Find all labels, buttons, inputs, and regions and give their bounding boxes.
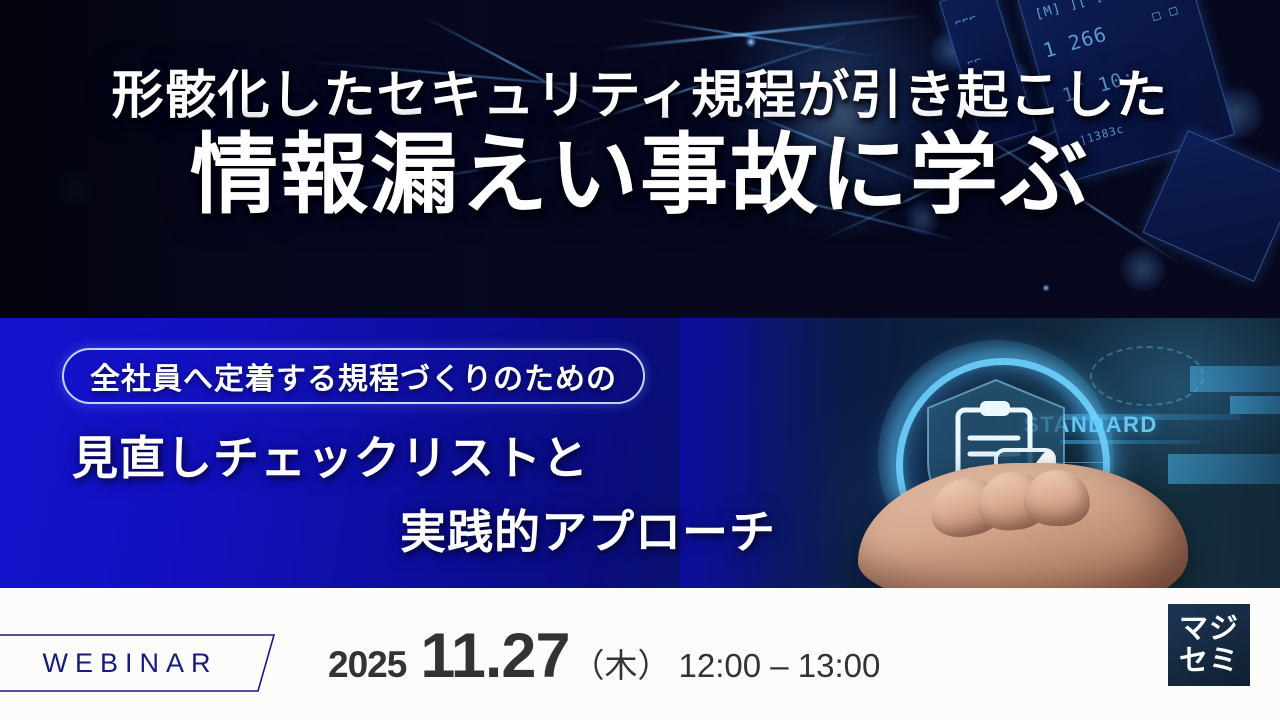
logo-line-2: セミ — [1179, 647, 1239, 676]
date-time-range: 12:00 – 13:00 — [679, 647, 881, 685]
glow-particle — [1042, 284, 1050, 292]
webinar-badge: WEBINAR — [0, 634, 286, 692]
hero-title-line-2: 情報漏えい事故に学ぶ — [0, 128, 1280, 221]
hero-section: [M] ][ [ 1 266 □ □ 1Γ 10; ]1383c ⌐⌐⌐ ⌐⌐ … — [0, 0, 1280, 318]
hero-title-group: 形骸化したセキュリティ規程が引き起こした 情報漏えい事故に学ぶ — [0, 0, 1280, 221]
hero-title-line-1: 形骸化したセキュリティ規程が引き起こした — [0, 68, 1280, 124]
logo-line-1: マジ — [1179, 615, 1239, 644]
webinar-badge-label: WEBINAR — [0, 634, 266, 692]
date-day-of-week: （木） — [572, 639, 671, 687]
subtitle-line-2: 実践的アプローチ — [400, 496, 776, 562]
subtitle-section: STANDARD — [0, 318, 1280, 588]
hand-with-shield-graphic — [838, 348, 1238, 588]
subtitle-line-1: 見直しチェックリストと — [72, 422, 589, 488]
subtitle-pill-text: 全社員へ定着する規程づくりのための — [90, 354, 617, 398]
date-month-day: 11.27 — [420, 620, 569, 692]
date-year: 2025 — [328, 644, 406, 686]
bokeh-light — [1120, 246, 1166, 292]
webinar-banner: [M] ][ [ 1 266 □ □ 1Γ 10; ]1383c ⌐⌐⌐ ⌐⌐ … — [0, 0, 1280, 720]
event-date-time: 2025 11.27 （木） 12:00 – 13:00 — [328, 620, 880, 692]
majisemi-logo[interactable]: マジ セミ — [1168, 604, 1250, 686]
subtitle-pill: 全社員へ定着する規程づくりのための — [62, 348, 645, 404]
